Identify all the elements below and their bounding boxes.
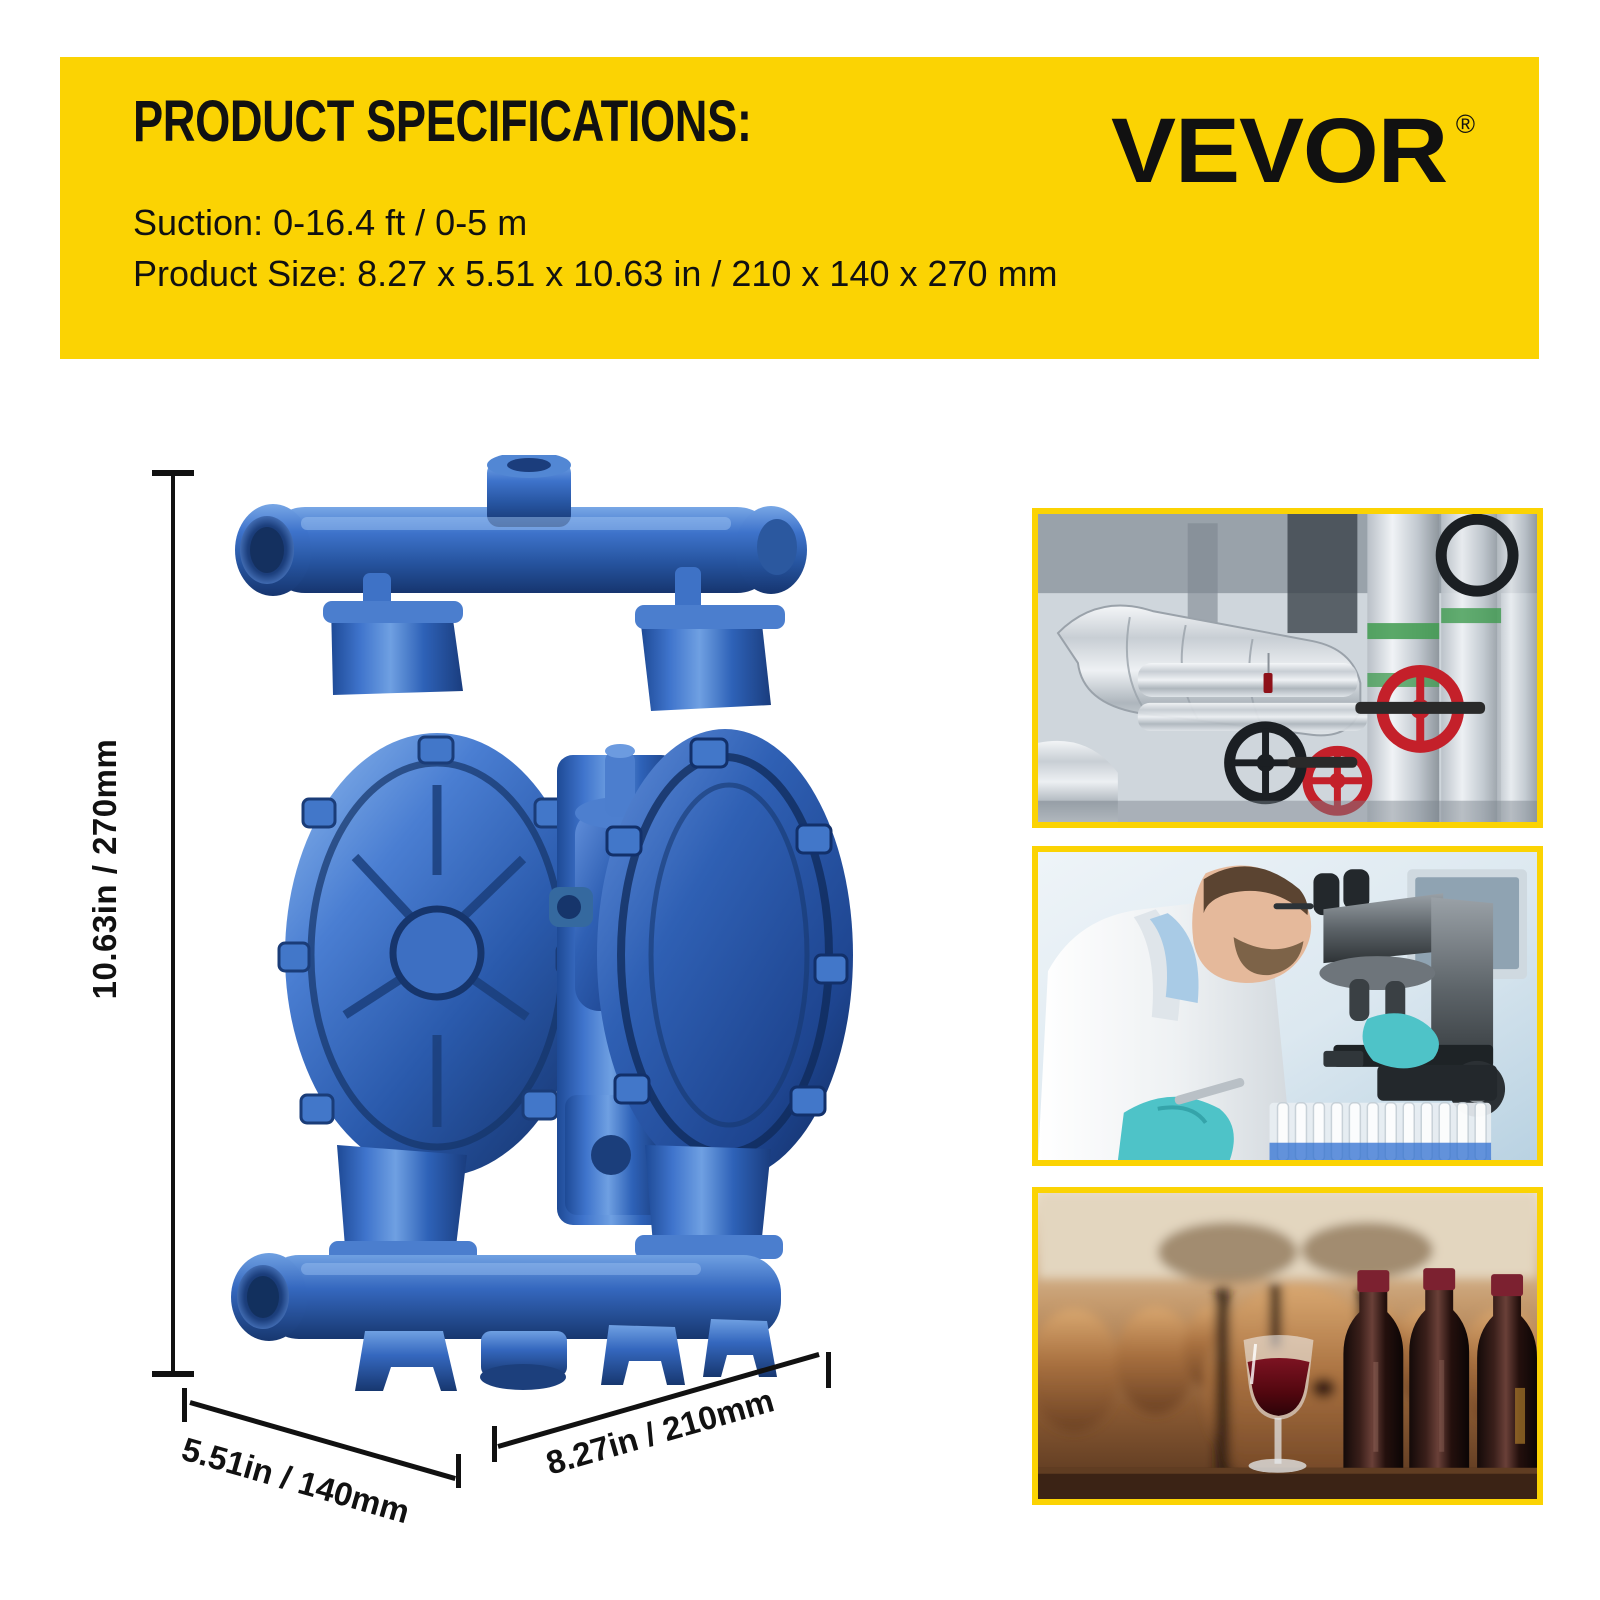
product-diagram: 10.63in / 270mm [0,380,960,1600]
width-dimension-tick-right [826,1352,831,1388]
depth-dimension-tick-left [182,1388,187,1422]
specifications-banner: PRODUCT SPECIFICATIONS: VEVOR ® Suction:… [60,57,1539,359]
test-tube-rack [1270,1103,1492,1160]
pump-illustration [205,455,865,1395]
height-dimension-line [171,472,175,1375]
height-dimension-tick-bottom [152,1371,194,1377]
registered-trademark-icon: ® [1456,111,1475,137]
left-diaphragm-chamber [279,601,589,1265]
spec-product-size: Product Size: 8.27 x 5.51 x 10.63 in / 2… [133,256,1058,292]
photo-industrial-piping [1032,508,1543,828]
depth-dimension: 5.51in / 140mm [182,1392,472,1492]
page-title: PRODUCT SPECIFICATIONS: [133,93,752,151]
depth-dimension-label: 5.51in / 140mm [178,1430,414,1531]
photo-winery-cellar [1032,1187,1543,1505]
depth-dimension-tick-right [456,1454,461,1488]
wine-bottles [1343,1268,1537,1468]
height-dimension-label: 10.63in / 270mm [86,704,124,1034]
width-dimension: 8.27in / 210mm [492,1360,842,1470]
photo-laboratory-microscope [1032,846,1543,1166]
spec-suction: Suction: 0-16.4 ft / 0-5 m [133,205,527,241]
brand-wordmark: VEVOR [1111,105,1447,197]
height-dimension-tick-top [152,470,194,476]
top-manifold [235,455,807,615]
width-dimension-tick-left [492,1426,497,1462]
application-photo-strip [1032,508,1543,1505]
vevor-logo: VEVOR ® [1130,105,1447,197]
